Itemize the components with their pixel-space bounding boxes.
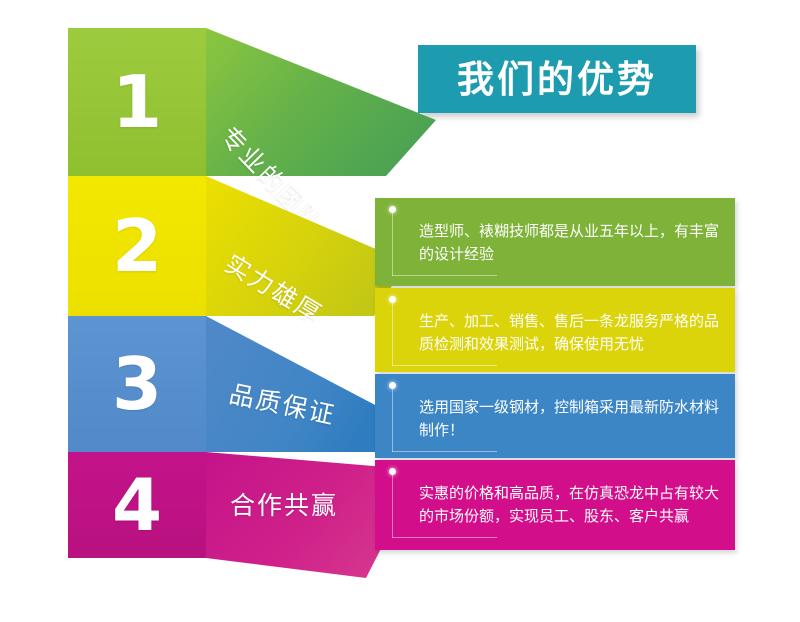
- infographic-canvas: 我们的优势 专业的团队: [0, 0, 800, 622]
- page-title: 我们的优势: [457, 61, 657, 98]
- description-panel-4: 实惠的价格和高品质，在仿真恐龙中占有较大的市场份额，实现员工、股东、客户共赢: [375, 460, 735, 550]
- bullet-dot-icon-3: [389, 382, 396, 389]
- description-panel-2: 生产、加工、销售、售后一条龙服务严格的品质检测和效果测试，确保使用无忧: [375, 288, 735, 372]
- advantage-label-4: 合作共赢: [230, 486, 338, 522]
- advantage-number-2: 2: [112, 210, 162, 282]
- page-title-badge: 我们的优势: [418, 45, 696, 113]
- advantage-number-3: 3: [112, 348, 162, 420]
- bracket-decoration-3: [392, 384, 393, 452]
- advantage-description-3: 选用国家一级钢材，控制箱采用最新防水材料制作！: [419, 396, 719, 443]
- advantage-description-4: 实惠的价格和高品质，在仿真恐龙中占有较大的市场份额，实现员工、股东、客户共赢: [419, 482, 719, 529]
- bullet-dot-icon-2: [389, 296, 396, 303]
- description-panel-1: 造型师、裱糊技师都是从业五年以上，有丰富的设计经验: [375, 198, 735, 286]
- number-block-4: 4: [68, 452, 206, 558]
- number-block-1: 1: [68, 28, 206, 176]
- wedge-3: 品质保证: [206, 316, 396, 468]
- number-block-2: 2: [68, 176, 206, 316]
- advantage-description-2: 生产、加工、销售、售后一条龙服务严格的品质检测和效果测试，确保使用无忧: [419, 310, 719, 357]
- bracket-decoration-2: [392, 298, 393, 366]
- bracket-decoration-4: [392, 470, 393, 538]
- bracket-decoration-1: [392, 208, 393, 276]
- bullet-dot-icon-1: [389, 206, 396, 213]
- advantage-number-1: 1: [112, 66, 162, 138]
- description-panel-3: 选用国家一级钢材，控制箱采用最新防水材料制作！: [375, 374, 735, 458]
- bullet-dot-icon-4: [389, 468, 396, 475]
- advantage-description-1: 造型师、裱糊技师都是从业五年以上，有丰富的设计经验: [419, 220, 719, 267]
- advantage-number-4: 4: [112, 469, 162, 541]
- number-block-3: 3: [68, 316, 206, 452]
